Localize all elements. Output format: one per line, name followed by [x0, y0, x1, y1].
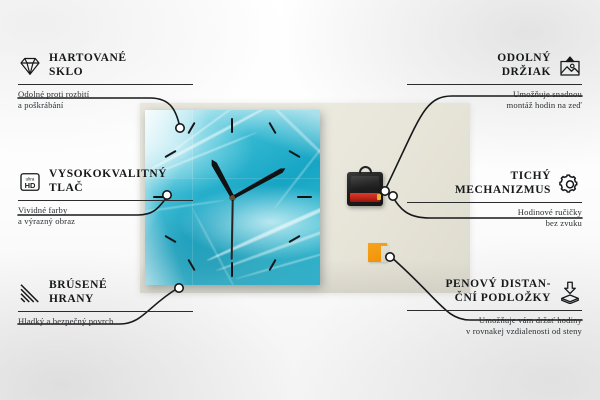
picture-hanger-icon: [558, 54, 582, 78]
clock-mechanism: [347, 172, 383, 206]
feature-title: ODOLNÝ DRŽIAK: [497, 52, 551, 79]
feature-title: TICHÝ MECHANIZMUS: [455, 170, 551, 197]
feature-durable-holder: ODOLNÝ DRŽIAK Umožňuje snadnou montáž ho…: [407, 52, 582, 110]
feature-description: Hladký a bezpečný povrch: [18, 316, 193, 327]
feature-title: BRÚSENÉ HRANY: [49, 279, 107, 306]
divider: [407, 310, 582, 311]
feature-silent-mechanism: TICHÝ MECHANIZMUS Hodinové ručičky bez z…: [407, 170, 582, 228]
feature-description: Umožňuje vám držať hodiny v rovnakej vzd…: [407, 315, 582, 336]
gear-icon: [558, 172, 582, 196]
svg-text:HD: HD: [25, 181, 36, 190]
feature-title: HARTOVANÉ SKLO: [49, 52, 127, 79]
battery: [350, 193, 380, 202]
foam-spacer-pad: [368, 243, 387, 262]
divider: [18, 311, 193, 312]
clock-center-pin: [230, 195, 235, 200]
ultra-hd-icon: ultra HD: [18, 170, 42, 194]
feature-title: PENOVÝ DISTAN- ČNÍ PODLOŽKY: [445, 278, 551, 305]
feature-title: VYSOKOKVALITNÝ TLAČ: [49, 168, 167, 195]
mechanism-hanger-hook: [359, 166, 372, 174]
feature-tempered-glass: HARTOVANÉ SKLO Odolné proti rozbití a po…: [18, 52, 193, 110]
bevelled-edge-icon: [18, 281, 42, 305]
foam-spacer-icon: [558, 280, 582, 304]
diamond-icon: [18, 54, 42, 78]
feature-polished-edges: BRÚSENÉ HRANY Hladký a bezpečný povrch: [18, 279, 193, 327]
divider: [18, 84, 193, 85]
feature-description: Umožňuje snadnou montáž hodin na zeď: [407, 89, 582, 110]
divider: [18, 200, 193, 201]
feature-description: Hodinové ručičky bez zvuku: [407, 207, 582, 228]
infographic-canvas: HARTOVANÉ SKLO Odolné proti rozbití a po…: [0, 0, 600, 400]
feature-description: Vividné farby a výrazný obraz: [18, 205, 193, 226]
feature-high-quality-print: ultra HD VYSOKOKVALITNÝ TLAČ Vividné far…: [18, 168, 193, 226]
divider: [407, 84, 582, 85]
feature-description: Odolné proti rozbití a poškrábání: [18, 89, 193, 110]
feature-foam-spacers: PENOVÝ DISTAN- ČNÍ PODLOŽKY Umožňuje vám…: [407, 278, 582, 336]
divider: [407, 202, 582, 203]
